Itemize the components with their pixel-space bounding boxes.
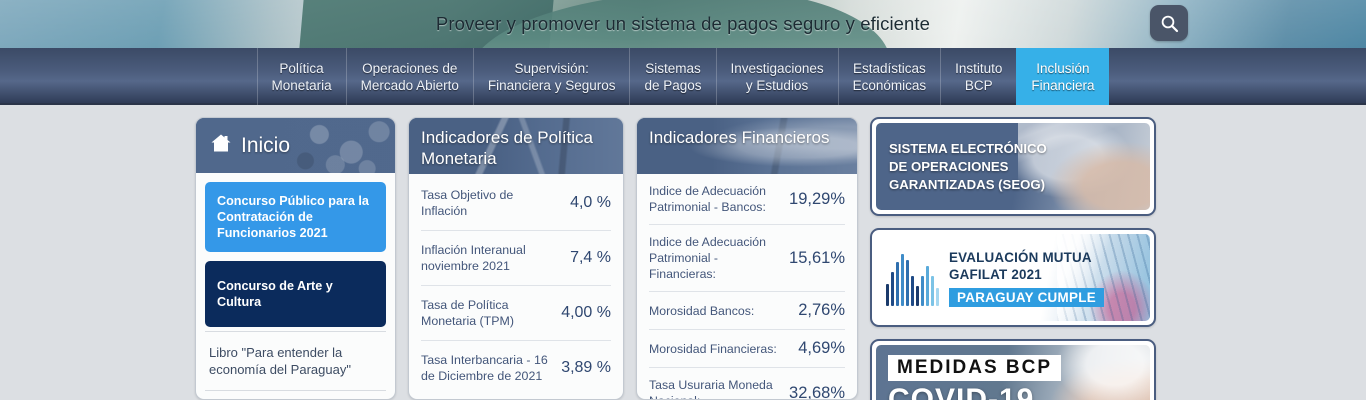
nav-label-line1: Supervisión: — [515, 60, 589, 77]
nav-label-line2: Mercado Abierto — [361, 77, 459, 94]
indicator-row[interactable]: Tasa Objetivo de Inflación 4,0 % — [421, 174, 611, 230]
sidebar-title: Inicio — [241, 134, 290, 158]
indicator-label: Tasa Interbancaria - 16 de Diciembre de … — [421, 352, 553, 384]
sidebar: Inicio Concurso Público para la Contrata… — [195, 117, 396, 400]
indicator-value: 3,89 % — [561, 359, 611, 377]
sidebar-item-aspectos-institucionales[interactable]: Aspectos Institucionales — [205, 390, 386, 400]
main-navigation: Política Monetaria Operaciones de Mercad… — [0, 48, 1366, 105]
sidebar-header: Inicio — [196, 118, 395, 173]
nav-label-line2: Financiera y Seguros — [488, 77, 616, 94]
nav-label-line1: Política — [279, 60, 323, 77]
indicator-label: Inflación Interanual noviembre 2021 — [421, 242, 562, 274]
indicator-value: 4,69% — [798, 339, 845, 358]
indicator-label: Indice de Adecuación Patrimonial - Banco… — [649, 183, 781, 215]
nav-label-line2: BCP — [965, 77, 993, 94]
indicator-row[interactable]: Tasa Usuraria Moneda Nacional: 32,68% — [649, 367, 845, 400]
banner-seog-inner: SISTEMA ELECTRÓNICO DE OPERACIONES GARAN… — [876, 123, 1150, 210]
indicator-row[interactable]: Morosidad Bancos: 2,76% — [649, 291, 845, 329]
banner-gafilat-line2: GAFILAT 2021 — [949, 266, 1104, 283]
banner-gafilat-text: EVALUACIÓN MUTUA GAFILAT 2021 PARAGUAY C… — [949, 249, 1104, 307]
promo-concurso-publico[interactable]: Concurso Público para la Contratación de… — [205, 182, 386, 252]
banner-gafilat-tag: PARAGUAY CUMPLE — [949, 288, 1104, 307]
banner-seog-line3: GARANTIZADAS (SEOG) — [889, 176, 1047, 194]
banner-column: SISTEMA ELECTRÓNICO DE OPERACIONES GARAN… — [870, 117, 1156, 400]
indicator-value: 4,00 % — [561, 304, 611, 322]
sidebar-item-libro-economia[interactable]: Libro "Para entender la economía del Par… — [205, 331, 386, 390]
promo-concurso-arte-cultura[interactable]: Concurso de Arte y Cultura — [205, 261, 386, 327]
nav-label-line2: Financiera — [1031, 77, 1094, 94]
monetary-indicators-panel: Indicadores de Política Monetaria Tasa O… — [408, 117, 624, 400]
home-icon — [210, 133, 232, 158]
monetary-panel-body: Tasa Objetivo de Inflación 4,0 % Inflaci… — [409, 174, 623, 395]
banner-medidas-bcp[interactable]: MEDIDAS BCP COVID-19 — [870, 339, 1156, 400]
nav-label-line1: Instituto — [955, 60, 1002, 77]
financial-panel-title: Indicadores Financieros — [649, 127, 845, 148]
banner-gafilat-line1: EVALUACIÓN MUTUA — [949, 249, 1104, 266]
indicator-value: 15,61% — [789, 249, 845, 268]
search-icon — [1160, 14, 1179, 33]
banner-seog-line2: DE OPERACIONES — [889, 158, 1047, 176]
nav-item-investigaciones-estudios[interactable]: Investigaciones y Estudios — [716, 48, 838, 105]
indicator-label: Morosidad Bancos: — [649, 303, 754, 319]
banner-medidas-inner: MEDIDAS BCP COVID-19 — [876, 345, 1150, 400]
banner-seog[interactable]: SISTEMA ELECTRÓNICO DE OPERACIONES GARAN… — [870, 117, 1156, 216]
nav-item-estadisticas-economicas[interactable]: Estadísticas Económicas — [838, 48, 941, 105]
nav-item-inclusion-financiera[interactable]: Inclusión Financiera — [1016, 48, 1109, 105]
nav-item-supervision-financiera-seguros[interactable]: Supervisión: Financiera y Seguros — [473, 48, 630, 105]
banner-medidas-line2: COVID-19 — [888, 384, 1150, 400]
search-button[interactable] — [1150, 5, 1188, 41]
indicator-row[interactable]: Tasa de Política Monetaria (TPM) 4,00 % — [421, 285, 611, 340]
indicator-value: 19,29% — [789, 190, 845, 209]
content-area: Inicio Concurso Público para la Contrata… — [0, 105, 1366, 400]
site-header: Proveer y promover un sistema de pagos s… — [0, 0, 1366, 48]
banner-seog-line1: SISTEMA ELECTRÓNICO — [889, 140, 1047, 158]
banner-gafilat-inner: EVALUACIÓN MUTUA GAFILAT 2021 PARAGUAY C… — [876, 234, 1150, 321]
banner-gafilat[interactable]: EVALUACIÓN MUTUA GAFILAT 2021 PARAGUAY C… — [870, 228, 1156, 327]
nav-label-line1: Estadísticas — [853, 60, 926, 77]
indicator-row[interactable]: Tasa Interbancaria - 16 de Diciembre de … — [421, 340, 611, 395]
nav-item-sistemas-de-pagos[interactable]: Sistemas de Pagos — [629, 48, 715, 105]
monetary-panel-header: Indicadores de Política Monetaria — [409, 118, 623, 174]
financial-indicators-panel: Indicadores Financieros Indice de Adecua… — [636, 117, 858, 400]
indicator-row[interactable]: Indice de Adecuación Patrimonial - Finan… — [649, 224, 845, 291]
indicator-label: Indice de Adecuación Patrimonial - Finan… — [649, 234, 781, 282]
financial-panel-body: Indice de Adecuación Patrimonial - Banco… — [637, 174, 857, 400]
indicator-value: 4,0 % — [570, 194, 611, 212]
sidebar-body: Concurso Público para la Contratación de… — [196, 173, 395, 400]
indicator-label: Morosidad Financieras: — [649, 341, 777, 357]
nav-item-operaciones-mercado-abierto[interactable]: Operaciones de Mercado Abierto — [346, 48, 473, 105]
nav-label-line1: Investigaciones — [731, 60, 824, 77]
nav-label-line2: Económicas — [853, 77, 927, 94]
nav-label-line2: y Estudios — [746, 77, 808, 94]
monetary-panel-title: Indicadores de Política Monetaria — [421, 127, 611, 169]
nav-item-instituto-bcp[interactable]: Instituto BCP — [940, 48, 1016, 105]
nav-label-line2: Monetaria — [272, 77, 332, 94]
indicator-label: Tasa de Política Monetaria (TPM) — [421, 297, 553, 329]
indicator-row[interactable]: Morosidad Financieras: 4,69% — [649, 329, 845, 367]
indicator-label: Tasa Usuraria Moneda Nacional: — [649, 377, 781, 400]
nav-item-politica-monetaria[interactable]: Política Monetaria — [257, 48, 346, 105]
banner-medidas-line1: MEDIDAS BCP — [888, 355, 1061, 381]
indicator-value: 32,68% — [789, 384, 845, 400]
gafilat-bars-logo-icon — [886, 250, 939, 306]
banner-seog-text: SISTEMA ELECTRÓNICO DE OPERACIONES GARAN… — [876, 140, 1047, 194]
indicator-value: 2,76% — [798, 301, 845, 320]
financial-panel-header: Indicadores Financieros — [637, 118, 857, 174]
nav-label-line1: Operaciones de — [362, 60, 457, 77]
indicator-label: Tasa Objetivo de Inflación — [421, 187, 562, 219]
indicator-value: 7,4 % — [570, 249, 611, 267]
nav-label-line1: Inclusión — [1036, 60, 1089, 77]
indicator-row[interactable]: Indice de Adecuación Patrimonial - Banco… — [649, 174, 845, 224]
nav-label-line1: Sistemas — [645, 60, 701, 77]
nav-label-line2: de Pagos — [644, 77, 701, 94]
indicator-row[interactable]: Inflación Interanual noviembre 2021 7,4 … — [421, 230, 611, 285]
